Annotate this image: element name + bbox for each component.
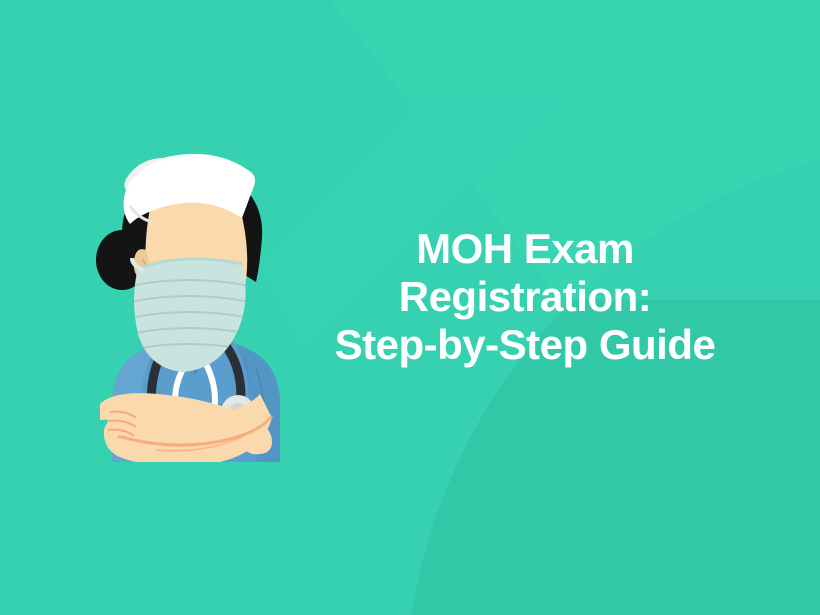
title-line-2: Registration:: [290, 273, 760, 321]
title-line-3: Step-by-Step Guide: [290, 321, 760, 369]
banner-title: MOH Exam Registration: Step-by-Step Guid…: [290, 225, 760, 369]
title-line-1: MOH Exam: [290, 225, 760, 273]
promo-banner: MOH Exam Registration: Step-by-Step Guid…: [0, 0, 820, 615]
